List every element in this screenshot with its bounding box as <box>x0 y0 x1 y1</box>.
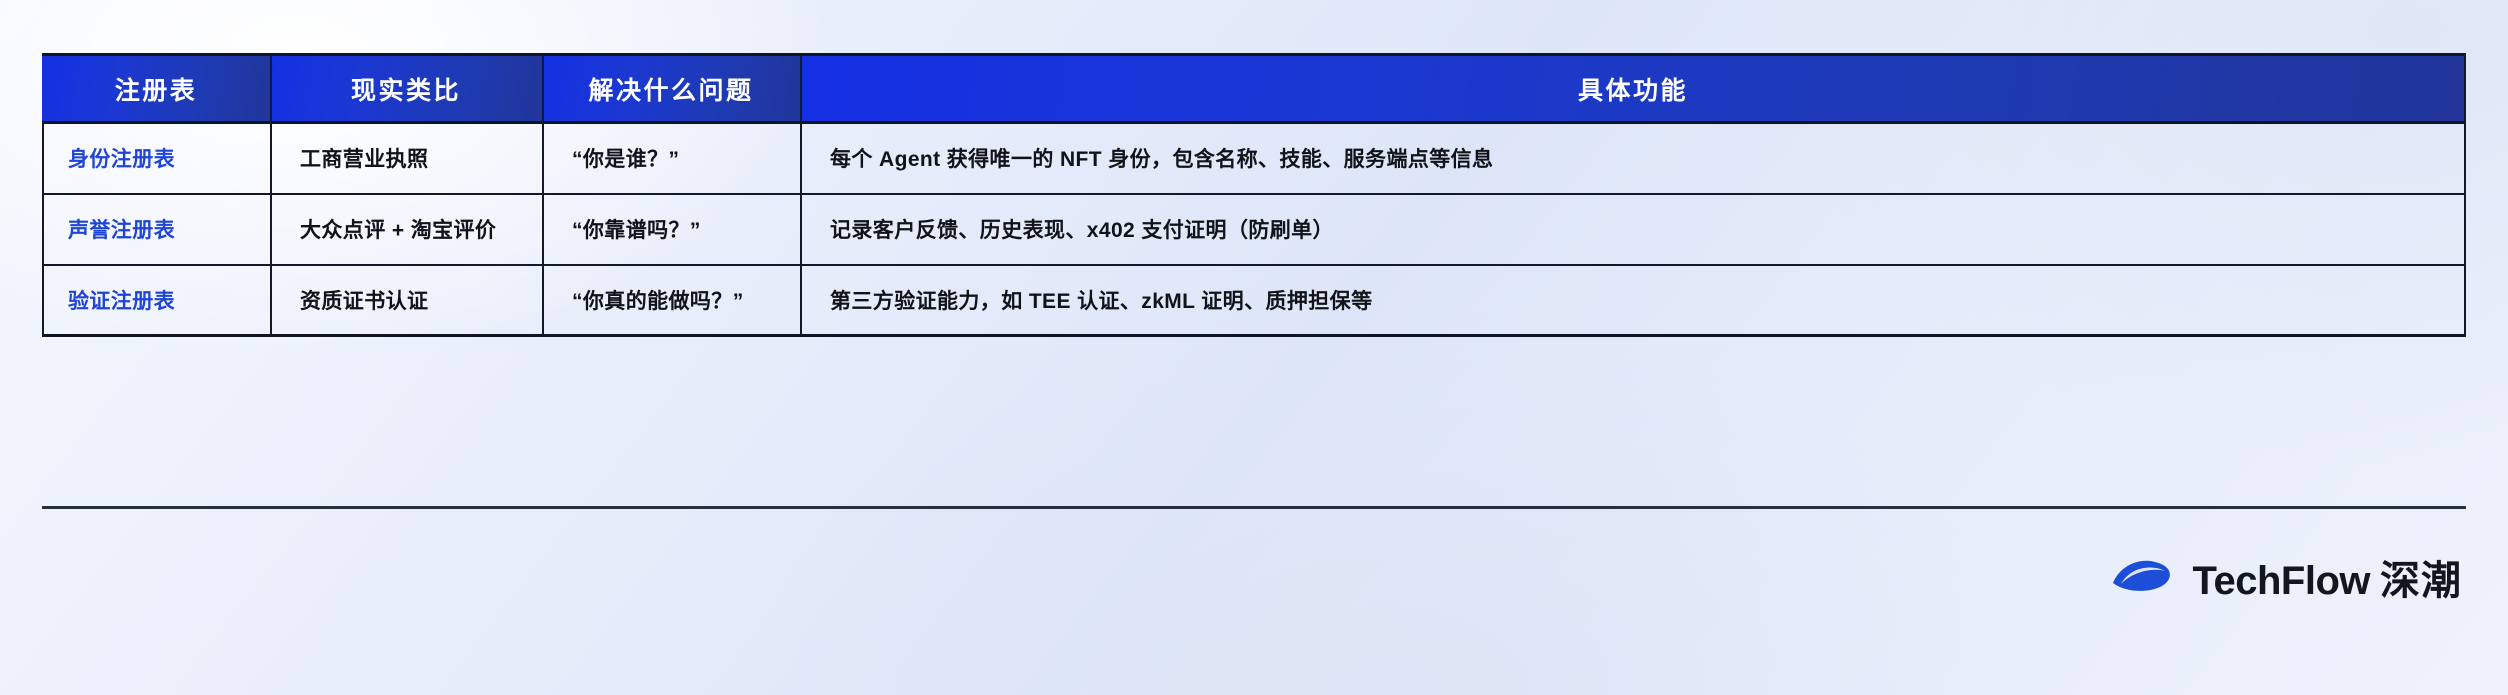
table-row: 声誉注册表 大众点评 + 淘宝评价 “你靠谱吗？” 记录客户反馈、历史表现、x4… <box>42 194 2466 265</box>
cell-problem: “你真的能做吗？” <box>542 265 800 336</box>
cell-problem: “你是谁？” <box>542 123 800 194</box>
brand-logo: TechFlow 深潮 <box>2111 540 2462 614</box>
cell-analogy: 工商营业执照 <box>270 123 542 194</box>
cell-function: 第三方验证能力，如 TEE 认证、zkML 证明、质押担保等 <box>800 265 2466 336</box>
brand-wordmark: TechFlow 深潮 <box>2193 548 2462 606</box>
column-header-registry: 注册表 <box>42 55 270 123</box>
registry-table-container: 注册表 现实类比 解决什么问题 具体功能 身份注册表 工商营业执照 “你是谁？”… <box>42 53 2466 337</box>
cell-function: 每个 Agent 获得唯一的 NFT 身份，包含名称、技能、服务端点等信息 <box>800 123 2466 194</box>
column-header-analogy: 现实类比 <box>270 55 542 123</box>
table-row: 验证注册表 资质证书认证 “你真的能做吗？” 第三方验证能力，如 TEE 认证、… <box>42 265 2466 336</box>
techflow-wave-logo-icon <box>2111 557 2173 597</box>
table-header: 注册表 现实类比 解决什么问题 具体功能 <box>42 55 2466 123</box>
cell-analogy: 资质证书认证 <box>270 265 542 336</box>
footer-divider <box>42 506 2466 509</box>
registry-table: 注册表 现实类比 解决什么问题 具体功能 身份注册表 工商营业执照 “你是谁？”… <box>42 53 2466 337</box>
slide-canvas: 注册表 现实类比 解决什么问题 具体功能 身份注册表 工商营业执照 “你是谁？”… <box>0 0 2508 695</box>
column-header-problem: 解决什么问题 <box>542 55 800 123</box>
cell-function: 记录客户反馈、历史表现、x402 支付证明（防刷单） <box>800 194 2466 265</box>
brand-name-en: TechFlow <box>2193 559 2370 604</box>
cell-registry-name: 声誉注册表 <box>42 194 270 265</box>
cell-registry-name: 身份注册表 <box>42 123 270 194</box>
cell-problem: “你靠谱吗？” <box>542 194 800 265</box>
table-header-row: 注册表 现实类比 解决什么问题 具体功能 <box>42 55 2466 123</box>
cell-analogy: 大众点评 + 淘宝评价 <box>270 194 542 265</box>
cell-registry-name: 验证注册表 <box>42 265 270 336</box>
table-row: 身份注册表 工商营业执照 “你是谁？” 每个 Agent 获得唯一的 NFT 身… <box>42 123 2466 194</box>
brand-name-cn: 深潮 <box>2380 548 2462 606</box>
column-header-function: 具体功能 <box>800 55 2466 123</box>
table-body: 身份注册表 工商营业执照 “你是谁？” 每个 Agent 获得唯一的 NFT 身… <box>42 123 2466 336</box>
